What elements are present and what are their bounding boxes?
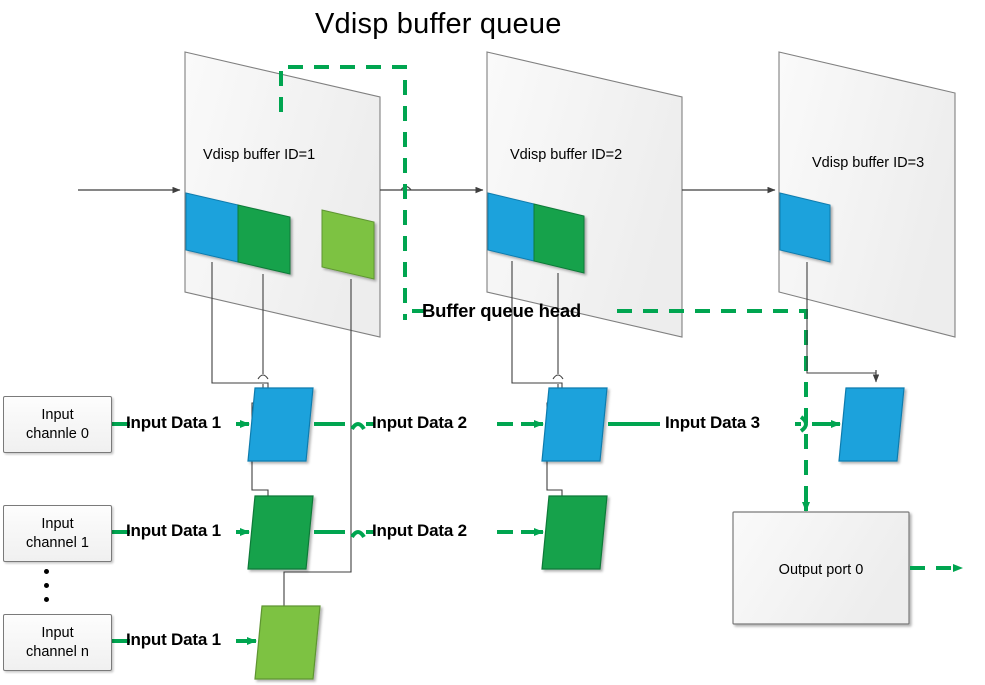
data-tiles-row2 <box>255 606 320 679</box>
buffer-panel-2-shape <box>487 52 682 337</box>
input-channel-box-n[interactable]: Input channel n <box>3 614 112 671</box>
buffer3-tiles <box>780 193 830 262</box>
data-tile-row0-ch0[interactable] <box>248 388 313 461</box>
data-label-row0-3: Input Data 3 <box>665 413 760 433</box>
page-title: Vdisp buffer queue <box>315 8 562 41</box>
conn-b1-green-jump <box>258 375 268 379</box>
data-tile-row2-ch0[interactable] <box>255 606 320 679</box>
data-tile-row0-ch2[interactable] <box>839 388 904 461</box>
data-label-row0-1: Input Data 1 <box>126 413 221 433</box>
output-port-label: Output port 0 <box>733 561 909 579</box>
buffer-3-label: Vdisp buffer ID=3 <box>812 155 924 171</box>
buffer-2-label: Vdisp buffer ID=2 <box>510 147 622 163</box>
input-channel-0-label: Input channle 0 <box>26 406 89 442</box>
buffer-queue-head-bracket-2 <box>617 311 806 498</box>
data-label-row2-1: Input Data 1 <box>126 630 221 650</box>
buffer1-tile-blue[interactable] <box>186 193 238 262</box>
channel-ellipsis <box>44 569 49 602</box>
green-row0-jump-1 <box>352 424 364 429</box>
data-label-row1-1: Input Data 1 <box>126 521 221 541</box>
data-label-row0-2: Input Data 2 <box>372 413 467 433</box>
ellipsis-dot <box>44 597 49 602</box>
data-tile-row0-ch1[interactable] <box>542 388 607 461</box>
buffer-1-label: Vdisp buffer ID=1 <box>203 147 315 163</box>
buffer1-tile-lightgreen[interactable] <box>322 210 374 279</box>
buffer1-tile-green[interactable] <box>238 205 290 274</box>
conn-b2-green-jump <box>553 375 563 379</box>
vdisp-buffer-panel-2[interactable] <box>487 52 682 337</box>
green-row1-jump-1 <box>352 532 364 537</box>
input-channel-box-1[interactable]: Input channel 1 <box>3 505 112 562</box>
buffer-queue-head-label: Buffer queue head <box>422 300 581 322</box>
vdisp-buffer-panel-3[interactable] <box>779 52 955 337</box>
ellipsis-dot <box>44 583 49 588</box>
green-row0-jump-2 <box>801 417 806 431</box>
data-tile-row1-ch0[interactable] <box>248 496 313 569</box>
ellipsis-dot <box>44 569 49 574</box>
buffer2-tile-blue[interactable] <box>488 193 534 261</box>
buffer3-tile-blue[interactable] <box>780 193 830 262</box>
buffer-panel-3-shape <box>779 52 955 337</box>
buffer2-tile-green[interactable] <box>534 204 584 273</box>
data-tile-row1-ch1[interactable] <box>542 496 607 569</box>
input-channel-1-label: Input channel 1 <box>26 515 89 551</box>
diagram-vector-layer <box>0 0 985 685</box>
data-label-row1-2: Input Data 2 <box>372 521 467 541</box>
input-channel-n-label: Input channel n <box>26 624 89 660</box>
input-channel-box-0[interactable]: Input channle 0 <box>3 396 112 453</box>
diagram-canvas: Vdisp buffer queue Vdisp buffer ID=1 Vdi… <box>0 0 985 685</box>
